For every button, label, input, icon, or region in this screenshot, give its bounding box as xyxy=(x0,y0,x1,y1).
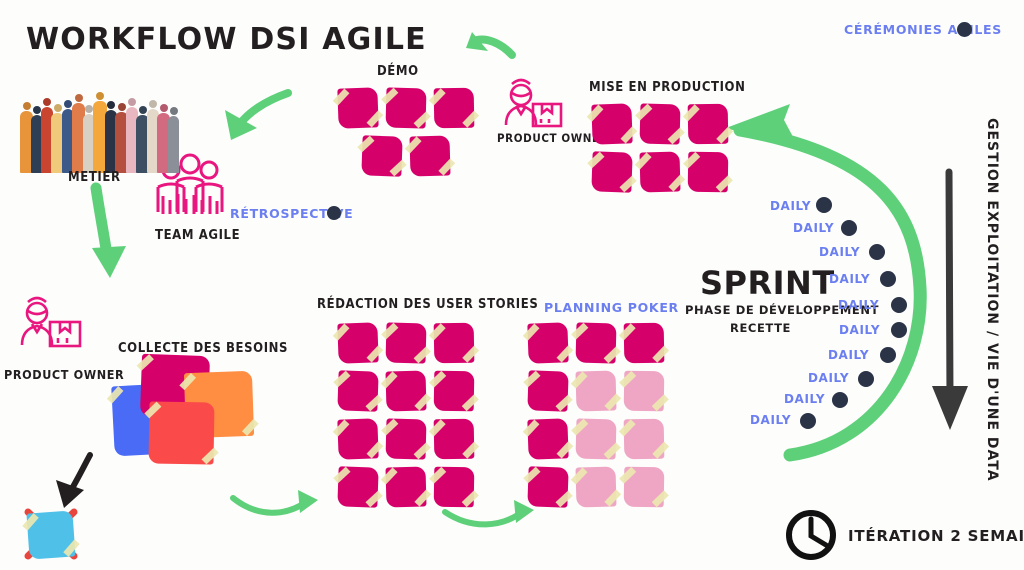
mise-en-production-note xyxy=(639,103,680,144)
daily-dot xyxy=(800,413,816,429)
daily-label: DAILY xyxy=(784,392,825,406)
daily-dot xyxy=(816,197,832,213)
product-owner-bottom-label: PRODUCT OWNER xyxy=(4,367,124,382)
daily-label: DAILY xyxy=(829,272,870,286)
user-story-note xyxy=(337,418,378,459)
planning-poker-note xyxy=(624,467,665,508)
planning-poker-note xyxy=(527,466,568,507)
daily-dot xyxy=(832,392,848,408)
page-title: WORKFLOW DSI AGILE xyxy=(26,22,427,57)
user-story-note xyxy=(385,322,426,363)
arrow-metier-to-product-owner xyxy=(92,188,126,278)
mise-en-production-note xyxy=(639,151,680,192)
rejected-note xyxy=(26,510,75,559)
planning-poker-note xyxy=(527,370,568,411)
daily-dot xyxy=(891,322,907,338)
legend-ceremonies-agiles-dot xyxy=(957,22,972,37)
daily-label: DAILY xyxy=(838,298,879,312)
demo-label: DÉMO xyxy=(377,64,419,79)
metier-people-photo xyxy=(18,78,178,173)
planning-poker-label: PLANNING POKER xyxy=(544,300,679,315)
daily-dot xyxy=(891,297,907,313)
gestion-exploitation-label: GESTION EXPLOITATION / VIE D'UNE DATA xyxy=(984,118,1000,482)
user-story-note xyxy=(434,419,475,460)
clock-icon xyxy=(789,513,833,557)
daily-dot xyxy=(880,271,896,287)
person-figure xyxy=(168,116,179,173)
user-story-note xyxy=(385,370,426,411)
daily-label: DAILY xyxy=(808,371,849,385)
planning-poker-note xyxy=(575,466,616,507)
planning-poker-note xyxy=(575,322,616,363)
daily-dot xyxy=(841,220,857,236)
planning-poker-note xyxy=(624,323,665,364)
daily-dot xyxy=(869,244,885,260)
user-story-note xyxy=(434,323,475,364)
daily-label: DAILY xyxy=(828,348,869,362)
mise-en-production-note xyxy=(688,104,729,145)
mise-en-production-note xyxy=(591,151,632,192)
demo-note xyxy=(361,135,402,176)
user-story-note xyxy=(434,371,475,412)
user-story-note xyxy=(337,466,378,507)
arrow-rejected-note xyxy=(56,455,90,508)
demo-note xyxy=(434,88,475,129)
product-owner-icon-top xyxy=(506,80,561,126)
mise-en-production-note xyxy=(688,152,729,193)
collecte-note-red xyxy=(148,401,214,464)
daily-dot xyxy=(880,347,896,363)
planning-poker-note xyxy=(624,371,665,412)
daily-label: DAILY xyxy=(793,221,834,235)
team-agile-label: TEAM AGILE xyxy=(155,228,240,243)
planning-poker-note xyxy=(527,322,568,363)
mise-en-production-note xyxy=(591,103,632,144)
user-story-note xyxy=(434,467,475,508)
user-stories-label: RÉDACTION DES USER STORIES xyxy=(317,297,538,312)
daily-label: DAILY xyxy=(819,245,860,259)
demo-note xyxy=(409,135,450,176)
planning-poker-note xyxy=(575,418,616,459)
planning-poker-note xyxy=(624,419,665,460)
sprint-subtitle-line2: RECETTE xyxy=(730,321,791,335)
daily-label: DAILY xyxy=(770,199,811,213)
metier-label: METIER xyxy=(68,170,121,185)
demo-note xyxy=(337,87,378,128)
workflow-canvas: WORKFLOW DSI AGILE CÉRÉMONIES AGILES MET… xyxy=(0,0,1024,570)
user-story-note xyxy=(385,418,426,459)
arrow-product-owner-to-demo xyxy=(466,32,512,55)
arrow-to-retrospective xyxy=(225,93,288,140)
user-story-note xyxy=(337,322,378,363)
demo-note xyxy=(385,87,426,128)
daily-dot xyxy=(858,371,874,387)
planning-poker-note xyxy=(527,418,568,459)
arrow-gestion-exploitation xyxy=(932,172,968,430)
user-story-note xyxy=(385,466,426,507)
arrow-collecte-to-user-stories xyxy=(233,490,318,513)
daily-label: DAILY xyxy=(750,413,791,427)
legend-ceremonies-agiles-label: CÉRÉMONIES AGILES xyxy=(844,22,1002,37)
sprint-title: SPRINT xyxy=(700,264,835,302)
product-owner-icon-bottom xyxy=(22,298,80,346)
user-story-note xyxy=(337,370,378,411)
iteration-label: ITÉRATION 2 SEMAINES xyxy=(848,527,1024,545)
daily-label: DAILY xyxy=(839,323,880,337)
mise-en-production-label: MISE EN PRODUCTION xyxy=(589,80,746,95)
retrospective-dot xyxy=(327,206,341,220)
planning-poker-note xyxy=(575,370,616,411)
